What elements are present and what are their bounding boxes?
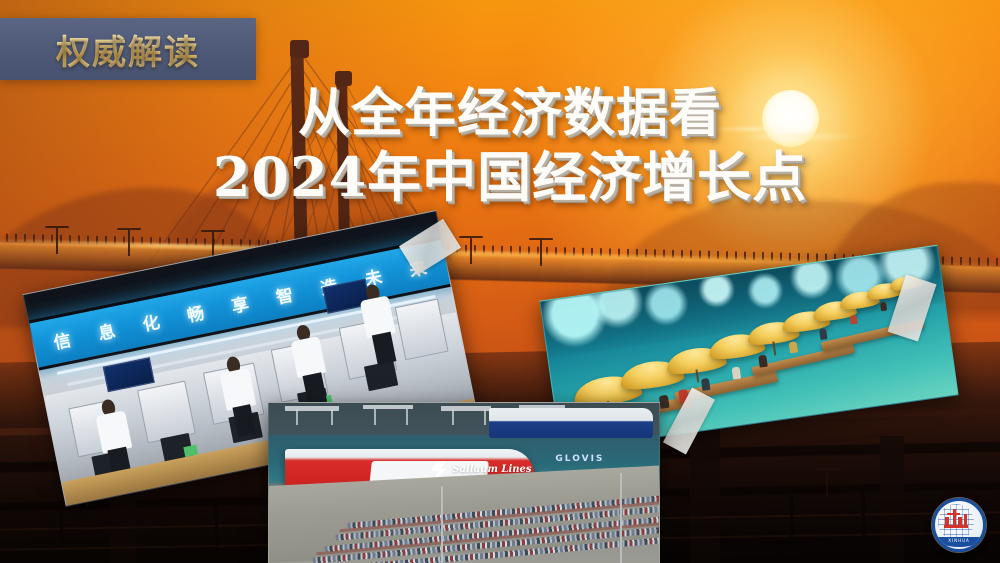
street-lamp-icon: [540, 240, 542, 266]
port-crane-leg: [484, 409, 486, 425]
led-char: 息: [96, 317, 118, 345]
xinhua-characters-icon: [942, 509, 970, 531]
river-visitor: [731, 366, 741, 379]
port-light-pole: [620, 473, 622, 563]
led-char: 信: [51, 326, 73, 354]
viaduct-column: [880, 436, 904, 563]
port-crane-leg: [296, 409, 298, 425]
port-crane-leg: [374, 409, 376, 425]
led-char: 化: [140, 308, 162, 336]
poster-root: 信 息 化 畅 享 智 造 未 来: [0, 0, 1000, 563]
xinhua-logo-band: XINHUA: [935, 537, 983, 547]
led-char: 智: [273, 280, 295, 308]
led-char: 享: [229, 290, 251, 318]
port-crane-leg: [452, 409, 454, 425]
river-visitor: [659, 394, 670, 409]
rail-post: [862, 492, 865, 544]
bamboo-raft: [752, 344, 855, 376]
category-badge-label: 权威解读: [56, 25, 200, 74]
rail-post: [215, 498, 218, 546]
factory-machine-module: [395, 299, 449, 360]
street-lamp-icon: [128, 230, 130, 256]
port-light-pole: [441, 486, 443, 563]
led-char: 畅: [185, 299, 207, 327]
viaduct-column: [690, 430, 720, 563]
rail-post: [60, 500, 63, 546]
xinhua-logo-icon[interactable]: XINHUA: [932, 498, 986, 552]
street-lamp-icon: [826, 470, 828, 496]
river-visitor: [819, 328, 828, 339]
umbrella-pole: [772, 341, 776, 355]
street-lamp-icon: [470, 238, 472, 264]
ship-glovis: [489, 408, 653, 438]
street-lamp-icon: [212, 232, 214, 258]
rail-post: [790, 488, 793, 544]
river-visitor: [849, 315, 857, 325]
river-visitor: [789, 341, 798, 353]
bridge-pylon-secondary-cap: [335, 71, 352, 86]
port-crane-leg: [331, 409, 333, 425]
street-lamp-icon: [56, 228, 58, 254]
port-crane-leg: [406, 409, 408, 425]
photo-card-export-port[interactable]: GLOVIS Sallaum Lines: [268, 402, 660, 563]
river-visitor: [758, 355, 768, 368]
river-visitor: [701, 378, 711, 391]
bridge-pylon-main-cap: [290, 40, 309, 58]
xinhua-logo-band-text: XINHUA: [935, 538, 983, 543]
category-badge[interactable]: 权威解读: [0, 18, 256, 80]
ship-glovis-name: GLOVIS: [555, 454, 604, 464]
